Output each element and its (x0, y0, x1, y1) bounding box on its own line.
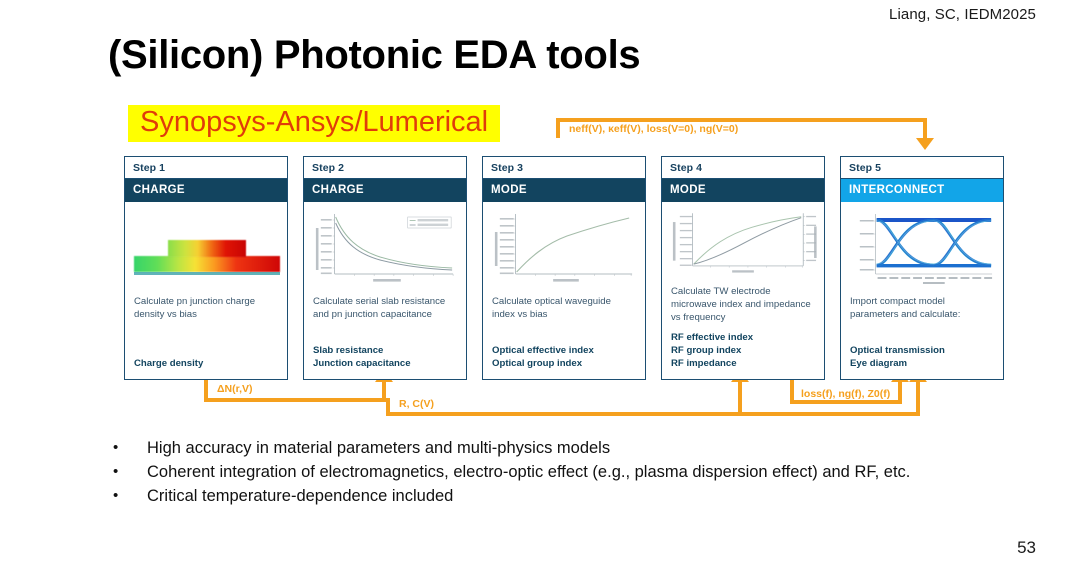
flow-arrow-s4-up (738, 381, 742, 416)
step-card-3-outputs: Optical effective index Optical group in… (483, 345, 645, 379)
step-card-2-output-0: Slab resistance (313, 345, 457, 358)
charge-density-heatmap-figure (130, 208, 282, 288)
flow-arrow-top-right-down (923, 118, 927, 140)
page-title: (Silicon) Photonic EDA tools (108, 33, 640, 78)
step-card-4[interactable]: Step 4 MODE (661, 156, 825, 380)
bullet-text: Critical temperature-dependence included (147, 485, 453, 509)
flow-arrow-top-head-icon (916, 138, 934, 150)
step-card-4-output-2: RF impedance (671, 358, 815, 371)
list-item: • Coherent integration of electromagneti… (113, 461, 1043, 485)
vendor-highlight-text: Synopsys-Ansys/Lumerical (140, 106, 488, 138)
step-card-2-tool-label: CHARGE (304, 179, 466, 202)
step-card-1-tool-label: CHARGE (125, 179, 287, 202)
flow-arrow-s4-s5-horizontal (790, 400, 902, 404)
step-card-2-description: Calculate serial slab resistance and pn … (304, 290, 466, 342)
flow-arrow-bottom-return-horizontal (386, 412, 920, 416)
step-card-5[interactable]: Step 5 INTERCONNECT (840, 156, 1004, 380)
flow-arrow-s5-up (898, 381, 902, 404)
bullet-marker-icon: • (113, 485, 147, 507)
step-card-1[interactable]: Step 1 CHARGE Calculate pn junction char… (124, 156, 288, 380)
step-card-2-step-label: Step 2 (304, 157, 466, 179)
flow-label-loss-ng-z0: loss(f), ng(f), Z0(f) (798, 388, 893, 400)
step-card-2-output-1: Junction capacitance (313, 358, 457, 371)
step-card-4-output-0: RF effective index (671, 332, 815, 345)
step-card-4-output-1: RF group index (671, 345, 815, 358)
flow-arrow-top-horizontal (556, 118, 927, 122)
rf-index-impedance-vs-frequency-figure (667, 208, 819, 278)
step-card-5-outputs: Optical transmission Eye diagram (841, 345, 1003, 379)
flow-arrow-s1-horizontal (204, 398, 386, 402)
author-conference-line: Liang, SC, IEDM2025 (889, 6, 1036, 23)
step-card-5-description: Import compact model parameters and calc… (841, 290, 1003, 342)
flow-label-top: neff(V), κeff(V), loss(V=0), ng(V=0) (566, 123, 741, 135)
step-card-5-step-label: Step 5 (841, 157, 1003, 179)
step-card-5-output-0: Optical transmission (850, 345, 994, 358)
step-card-2-outputs: Slab resistance Junction capacitance (304, 345, 466, 379)
step-card-3-step-label: Step 3 (483, 157, 645, 179)
list-item: • High accuracy in material parameters a… (113, 437, 1043, 461)
effective-index-vs-voltage-figure (488, 208, 640, 288)
flow-arrow-top-left-stub (556, 118, 560, 138)
step-card-1-step-label: Step 1 (125, 157, 287, 179)
bullet-text: High accuracy in material parameters and… (147, 437, 610, 461)
flow-arrow-bottom-return-up (916, 381, 920, 416)
step-card-5-output-1: Eye diagram (850, 358, 994, 371)
step-card-4-step-label: Step 4 (662, 157, 824, 179)
page-number: 53 (1017, 538, 1036, 558)
step-card-1-outputs: Charge density (125, 358, 287, 379)
step-card-4-outputs: RF effective index RF group index RF imp… (662, 332, 824, 379)
step-card-3-tool-label: MODE (483, 179, 645, 202)
step-card-3[interactable]: Step 3 MODE (482, 156, 646, 380)
step-card-3-output-0: Optical effective index (492, 345, 636, 358)
step-card-1-output-0: Charge density (134, 358, 278, 371)
flow-label-r-c: R, C(V) (396, 398, 437, 410)
step-card-5-tool-label: INTERCONNECT (841, 179, 1003, 202)
list-item: • Critical temperature-dependence includ… (113, 485, 1043, 509)
eye-diagram-figure (846, 208, 998, 288)
bullet-text: Coherent integration of electromagnetics… (147, 461, 910, 485)
capacitance-vs-voltage-figure (309, 208, 461, 288)
step-card-4-tool-label: MODE (662, 179, 824, 202)
bullet-marker-icon: • (113, 461, 147, 483)
step-card-2[interactable]: Step 2 CHARGE (303, 156, 467, 380)
bullet-marker-icon: • (113, 437, 147, 459)
step-card-4-description: Calculate TW electrode microwave index a… (662, 280, 824, 332)
bullet-list: • High accuracy in material parameters a… (113, 437, 1043, 509)
vendor-highlight-label: Synopsys-Ansys/Lumerical (128, 105, 500, 142)
step-card-3-output-1: Optical group index (492, 358, 636, 371)
flow-label-delta-n: ΔN(r,V) (214, 383, 256, 395)
step-card-3-description: Calculate optical waveguide index vs bia… (483, 290, 645, 342)
step-card-1-description: Calculate pn junction charge density vs … (125, 290, 287, 342)
